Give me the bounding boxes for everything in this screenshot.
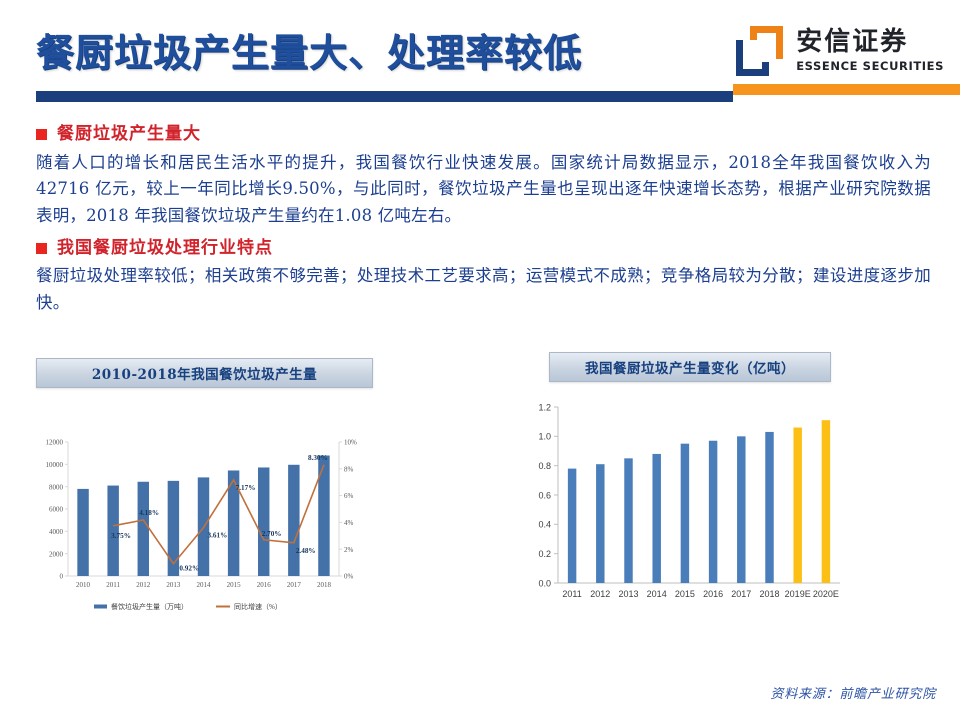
chart-caption-left: 2010-2018年我国餐饮垃圾产生量 (36, 358, 373, 388)
svg-text:0: 0 (60, 573, 64, 581)
svg-text:1.0: 1.0 (538, 432, 551, 442)
svg-text:2017: 2017 (731, 589, 751, 599)
section-heading-2: 我国餐厨垃圾处理行业特点 (36, 236, 931, 262)
chart-combo-waste-volume: 0200040006000800010000120000%2%4%6%8%10%… (36, 430, 391, 625)
section-heading-2-label: 我国餐厨垃圾处理行业特点 (57, 236, 273, 262)
svg-text:2018: 2018 (317, 581, 332, 589)
section-paragraph-1: 随着人口的增长和居民生活水平的提升，我国餐饮行业快速发展。国家统计局数据显示，2… (36, 150, 931, 230)
svg-text:2013: 2013 (618, 589, 638, 599)
svg-text:0.92%: 0.92% (179, 565, 199, 573)
svg-text:4000: 4000 (49, 528, 64, 536)
slide: 餐厨垃圾产生量大、处理率较低 安信证券 ESSENCE SECURITIES 餐… (0, 0, 960, 720)
svg-text:2016: 2016 (257, 581, 272, 589)
logo-text-cn: 安信证券 (796, 29, 944, 56)
svg-text:0%: 0% (344, 573, 354, 581)
svg-text:2011: 2011 (562, 589, 581, 599)
svg-text:10000: 10000 (46, 461, 64, 469)
chart-caption-right-label: 我国餐厨垃圾产生量变化（亿吨） (585, 357, 795, 377)
svg-text:8.30%: 8.30% (308, 454, 328, 462)
bullet-square-icon (36, 243, 47, 254)
content-body: 餐厨垃圾产生量大 随着人口的增长和居民生活水平的提升，我国餐饮行业快速发展。国家… (36, 120, 931, 317)
svg-text:2012: 2012 (590, 589, 610, 599)
bullet-square-icon (36, 129, 47, 140)
svg-text:3.61%: 3.61% (208, 532, 228, 540)
svg-text:2.48%: 2.48% (296, 547, 316, 555)
chart-caption-right: 我国餐厨垃圾产生量变化（亿吨） (549, 352, 831, 382)
svg-text:2010: 2010 (76, 581, 91, 589)
page-title: 餐厨垃圾产生量大、处理率较低 (36, 22, 582, 77)
svg-text:0.4: 0.4 (538, 520, 551, 530)
source-note: 资料来源：前瞻产业研究院 (770, 683, 936, 702)
svg-text:2013: 2013 (166, 581, 181, 589)
svg-text:2014: 2014 (647, 589, 667, 599)
section-paragraph-2: 餐厨垃圾处理率较低；相关政策不够完善；处理技术工艺要求高；运营模式不成熟；竞争格… (36, 263, 931, 316)
header-divider-orange (733, 84, 960, 95)
svg-text:1.2: 1.2 (538, 402, 551, 412)
brand-logo: 安信证券 ESSENCE SECURITIES (736, 20, 944, 82)
svg-text:4.18%: 4.18% (139, 509, 159, 517)
svg-text:2018: 2018 (759, 589, 779, 599)
svg-text:3.75%: 3.75% (111, 532, 131, 540)
logo-text-en: ESSENCE SECURITIES (796, 59, 944, 73)
chart-caption-left-label: 2010-2018年我国餐饮垃圾产生量 (92, 363, 317, 383)
svg-text:2011: 2011 (106, 581, 120, 589)
svg-text:0.2: 0.2 (538, 549, 551, 559)
svg-text:2017: 2017 (287, 581, 302, 589)
svg-text:6%: 6% (344, 492, 354, 500)
svg-text:8%: 8% (344, 465, 354, 473)
svg-text:2%: 2% (344, 546, 354, 554)
svg-text:2012: 2012 (136, 581, 151, 589)
svg-text:2014: 2014 (197, 581, 212, 589)
svg-text:7.17%: 7.17% (236, 484, 256, 492)
svg-text:8000: 8000 (49, 483, 64, 491)
svg-text:0.0: 0.0 (538, 578, 551, 588)
svg-text:4%: 4% (344, 519, 354, 527)
slide-header: 餐厨垃圾产生量大、处理率较低 安信证券 ESSENCE SECURITIES (0, 0, 960, 105)
svg-text:2020E: 2020E (813, 589, 839, 599)
svg-text:6000: 6000 (49, 506, 64, 514)
svg-text:12000: 12000 (46, 439, 64, 447)
section-heading-1-label: 餐厨垃圾产生量大 (57, 122, 201, 148)
header-divider-navy (36, 91, 733, 102)
svg-text:2015: 2015 (675, 589, 695, 599)
svg-text:餐饮垃圾产生量（万吨）: 餐饮垃圾产生量（万吨） (111, 602, 188, 611)
svg-text:2019E: 2019E (785, 589, 811, 599)
essence-logo-icon (736, 26, 786, 76)
svg-text:0.8: 0.8 (538, 461, 551, 471)
svg-text:0.6: 0.6 (538, 490, 551, 500)
svg-text:10%: 10% (344, 439, 357, 447)
chart-bar-waste-forecast: 0.00.20.40.60.81.01.22011201220132014201… (524, 395, 934, 620)
svg-text:2015: 2015 (227, 581, 242, 589)
svg-text:2.70%: 2.70% (262, 530, 282, 538)
svg-text:同比增速（%）: 同比增速（%） (234, 602, 282, 611)
section-heading-1: 餐厨垃圾产生量大 (36, 122, 931, 148)
svg-text:2016: 2016 (703, 589, 723, 599)
svg-text:2000: 2000 (49, 550, 64, 558)
